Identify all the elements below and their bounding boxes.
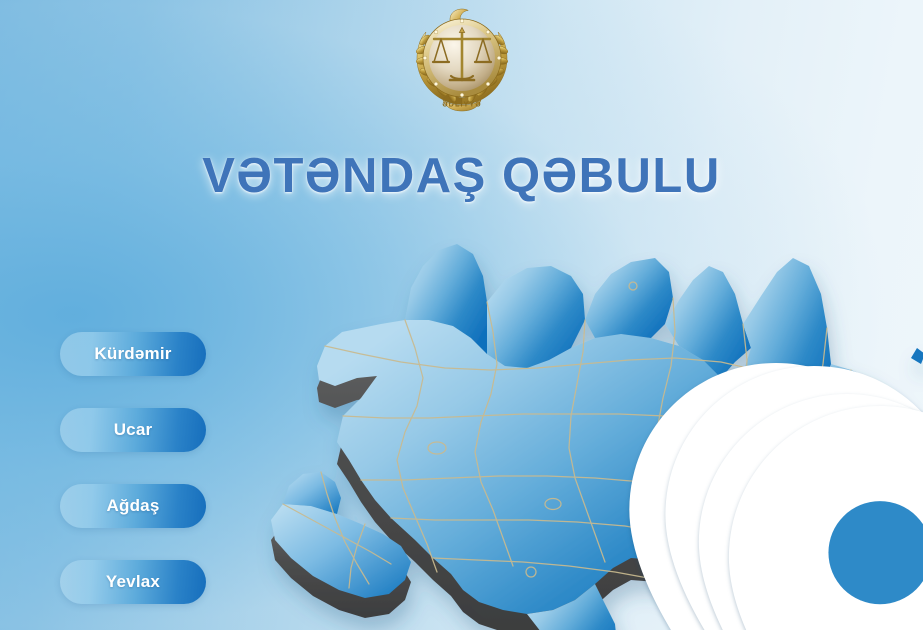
district-pill-ucar[interactable]: Ucar <box>60 408 206 452</box>
district-pill-kurdemir[interactable]: Kürdəmir <box>60 332 206 376</box>
district-pill-yevlax[interactable]: Yevlax <box>60 560 206 604</box>
district-pill-label: Kürdəmir <box>60 332 206 376</box>
page-title: VƏTƏNDAŞ QƏBULU <box>0 148 923 204</box>
district-pill-label: Ucar <box>60 408 206 452</box>
page-root: ƏDLİYYƏ VƏTƏNDAŞ QƏBULU <box>0 0 923 630</box>
district-pill-agdas[interactable]: Ağdaş <box>60 484 206 528</box>
map-pin-yevlax[interactable] <box>580 406 923 630</box>
azerbaijan-map <box>265 228 865 628</box>
district-pill-label: Ağdaş <box>60 484 206 528</box>
emblem-motto-text: ƏDLİYYƏ <box>442 100 481 109</box>
district-pill-label: Yevlax <box>60 560 206 604</box>
justice-ministry-emblem: ƏDLİYYƏ <box>403 6 521 118</box>
district-pill-list: Kürdəmir Ucar Ağdaş Yevlax <box>60 332 210 630</box>
